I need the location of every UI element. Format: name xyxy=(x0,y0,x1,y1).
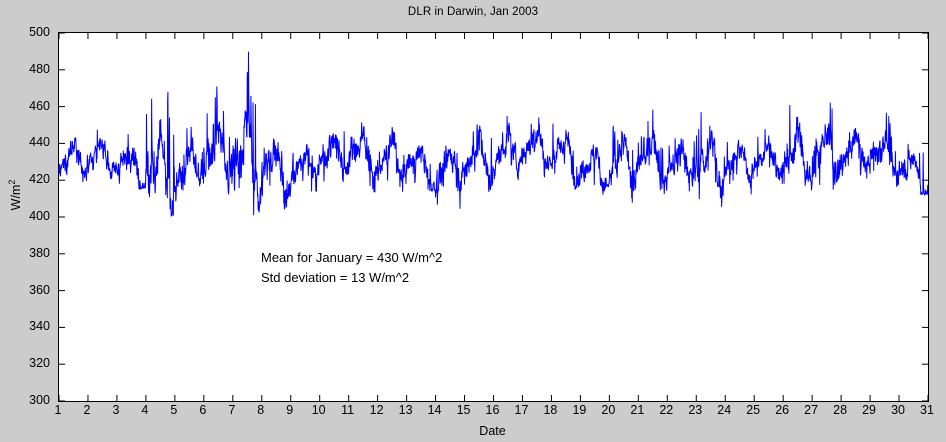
y-axis-label-exponent: 2 xyxy=(7,180,17,185)
x-tick-label: 24 xyxy=(709,404,739,417)
x-tick-label: 8 xyxy=(246,404,276,417)
x-tick-label: 29 xyxy=(854,404,884,417)
x-tick-label: 2 xyxy=(72,404,102,417)
x-tick-label: 5 xyxy=(159,404,189,417)
x-axis-label: Date xyxy=(58,424,927,438)
x-tick-label: 7 xyxy=(217,404,247,417)
x-tick-label: 27 xyxy=(796,404,826,417)
x-tick-label: 14 xyxy=(420,404,450,417)
x-tick-label: 1 xyxy=(43,404,73,417)
x-tick-label: 9 xyxy=(275,404,305,417)
x-tick-label: 10 xyxy=(304,404,334,417)
annotation-mean-line: Mean for January = 430 W/m^2 xyxy=(261,248,442,268)
x-tick-label: 21 xyxy=(622,404,652,417)
statistics-annotation: Mean for January = 430 W/m^2 Std deviati… xyxy=(261,248,442,288)
x-tick-label: 4 xyxy=(130,404,160,417)
x-tick-label: 16 xyxy=(478,404,508,417)
x-tick-label: 19 xyxy=(564,404,594,417)
annotation-std-line: Std deviation = 13 W/m^2 xyxy=(261,268,442,288)
x-tick-label: 15 xyxy=(449,404,479,417)
x-tick-label: 17 xyxy=(506,404,536,417)
y-axis-label: W/m2 xyxy=(9,165,23,225)
x-tick-label: 3 xyxy=(101,404,131,417)
x-tick-label: 20 xyxy=(593,404,623,417)
x-tick-label: 18 xyxy=(535,404,565,417)
x-tick-label: 13 xyxy=(391,404,421,417)
x-tick-label: 30 xyxy=(883,404,913,417)
x-tick-label: 26 xyxy=(767,404,797,417)
x-tick-label: 12 xyxy=(362,404,392,417)
x-tick-label: 11 xyxy=(333,404,363,417)
x-tick-label-group: 1234567891011121314151617181920212223242… xyxy=(0,0,946,442)
x-tick-label: 22 xyxy=(651,404,681,417)
x-tick-label: 6 xyxy=(188,404,218,417)
matlab-figure-window: DLR in Darwin, Jan 2003 3003203403603804… xyxy=(0,0,946,442)
x-tick-label: 28 xyxy=(825,404,855,417)
y-axis-label-text: W/m xyxy=(9,185,23,211)
x-tick-label: 23 xyxy=(680,404,710,417)
x-tick-label: 25 xyxy=(738,404,768,417)
x-tick-label: 31 xyxy=(912,404,942,417)
